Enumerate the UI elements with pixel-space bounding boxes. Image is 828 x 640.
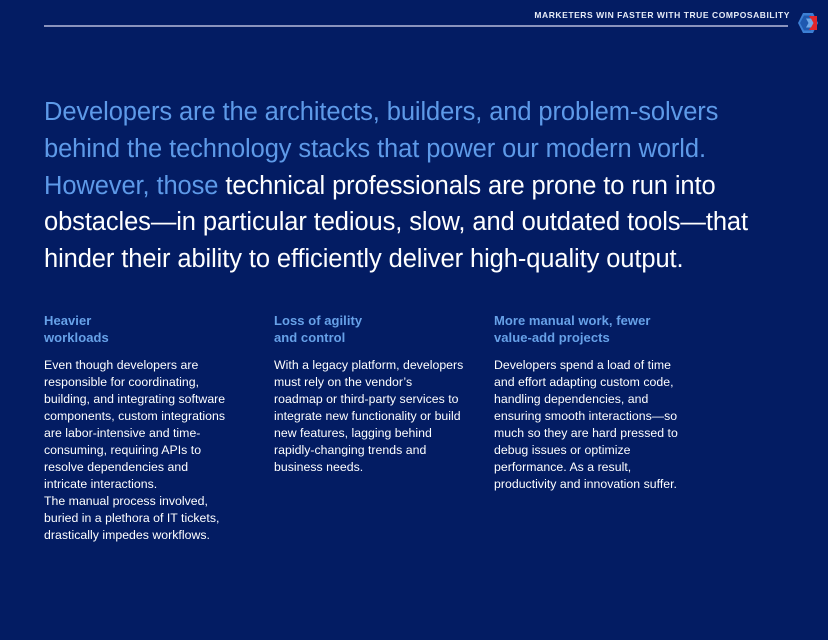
column-body: Even though developers are responsible f… bbox=[44, 357, 234, 544]
column-title: More manual work, fewer value-add projec… bbox=[494, 312, 694, 346]
header-divider-rule bbox=[44, 25, 788, 27]
column-body: Developers spend a load of time and effo… bbox=[494, 357, 694, 493]
heading-accent-however: However, those bbox=[44, 172, 225, 200]
header-kicker-text: MARKETERS WIN FASTER WITH TRUE COMPOSABI… bbox=[534, 10, 790, 20]
column-loss-of-agility-and-control: Loss of agility and control With a legac… bbox=[274, 312, 464, 544]
column-more-manual-work-fewer-value-add-projects: More manual work, fewer value-add projec… bbox=[494, 312, 694, 544]
heading-accent-lead: Developers are the architects, builders,… bbox=[44, 98, 718, 163]
composability-hexagon-logo-icon bbox=[796, 10, 822, 36]
column-body: With a legacy platform, developers must … bbox=[274, 357, 464, 476]
column-heavier-workloads: Heavier workloads Even though developers… bbox=[44, 312, 234, 544]
column-title: Heavier workloads bbox=[44, 312, 234, 346]
page-title: Developers are the architects, builders,… bbox=[44, 94, 784, 278]
column-title: Loss of agility and control bbox=[274, 312, 464, 346]
pain-points-columns: Heavier workloads Even though developers… bbox=[44, 312, 784, 544]
page-header: MARKETERS WIN FASTER WITH TRUE COMPOSABI… bbox=[0, 0, 828, 46]
